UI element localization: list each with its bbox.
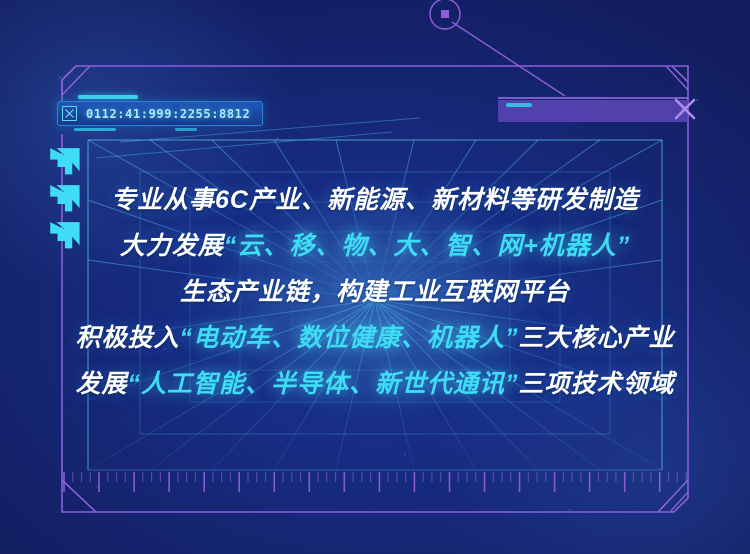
headline-highlight: “电动车、数位健康、机器人” [179, 324, 518, 352]
badge-tab-lower-left [74, 128, 116, 131]
headline-text: 生态产业链，构建工业互联网平台 [180, 278, 570, 306]
headline-text: 发展 [75, 370, 127, 398]
headline-text: 大力发展 [120, 232, 224, 260]
headline-text: 专业从事6C产业、新能源、新材料等研发制造 [111, 186, 639, 214]
circle-node-icon [430, 0, 565, 96]
headline-line: 专业从事6C产业、新能源、新材料等研发制造 [0, 188, 750, 213]
badge-tab-far-right [506, 103, 532, 107]
badge-code: 0112:41:999:2255:8812 [86, 107, 250, 121]
headline-text: 三项技术领域 [519, 370, 675, 398]
headline-highlight: “人工智能、半导体、新世代通讯” [127, 370, 518, 398]
headline-text: 三大核心产业 [519, 324, 675, 352]
headline-line: 发展“人工智能、半导体、新世代通讯”三项技术领域 [0, 372, 750, 397]
ruler-scale [0, 470, 750, 504]
headline-highlight: “云、移、物、大、智、网+机器人” [224, 232, 631, 260]
banner-stage: 0112:41:999:2255:8812 专业从事6C产业、新能源、新材料等研… [0, 0, 750, 554]
arrow-down-right-icon [50, 148, 79, 174]
headline-block: 专业从事6C产业、新能源、新材料等研发制造大力发展“云、移、物、大、智、网+机器… [0, 188, 750, 397]
badge-tab-lower-right [175, 128, 197, 131]
close-x-icon [676, 100, 694, 118]
headline-line: 积极投入“电动车、数位健康、机器人”三大核心产业 [0, 326, 750, 351]
headline-line: 大力发展“云、移、物、大、智、网+机器人” [0, 234, 750, 259]
headline-line: 生态产业链，构建工业互联网平台 [0, 280, 750, 305]
headline-text: 积极投入 [75, 324, 179, 352]
badge-tab-top [78, 95, 138, 99]
boxed-x-icon [62, 106, 77, 121]
status-badge[interactable]: 0112:41:999:2255:8812 [57, 101, 263, 126]
